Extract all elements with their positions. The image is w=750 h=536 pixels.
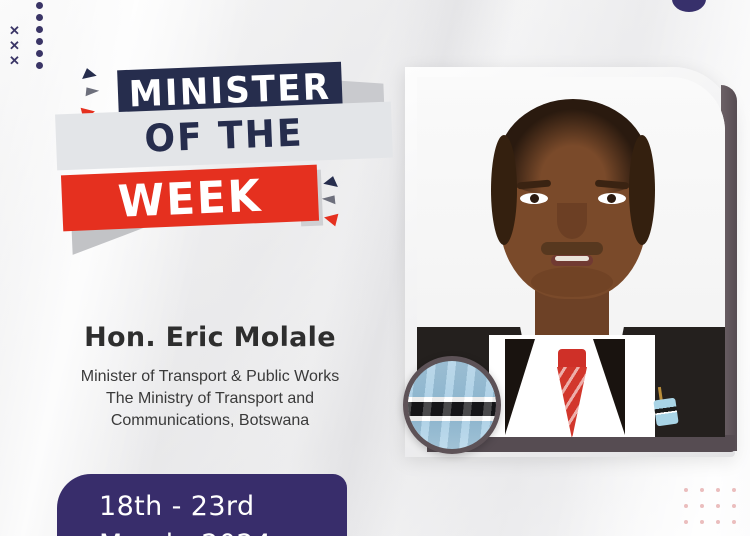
pupil-left [530, 194, 539, 203]
minister-role-line-2: The Ministry of Transport and [0, 388, 420, 410]
x-icon: ✕ [9, 39, 20, 52]
spark-icon [322, 195, 336, 205]
date-line-2: March, 2024 [99, 526, 347, 536]
hair-side-left [491, 135, 517, 245]
flag-wave-texture [408, 361, 496, 449]
spark-icon [323, 211, 339, 227]
dot-icon [732, 520, 736, 524]
moustache [541, 242, 603, 255]
dot-icon [36, 50, 43, 57]
dot-icon [700, 488, 704, 492]
headline-text-of-the: OF THE [144, 111, 305, 160]
botswana-flag-icon [403, 356, 501, 454]
dot-icon [684, 488, 688, 492]
minister-role-line-1: Minister of Transport & Public Works [0, 366, 420, 388]
minister-info-block: Hon. Eric Molale Minister of Transport &… [0, 322, 420, 432]
headline-band-week: WEEK [61, 165, 319, 232]
hair-side-right [629, 135, 655, 245]
dot-icon [700, 520, 704, 524]
lapel-right [593, 339, 625, 435]
dot-icon [36, 14, 43, 21]
pupil-right [607, 194, 616, 203]
dot-icon [36, 26, 43, 33]
dot-icon [716, 520, 720, 524]
nose [557, 203, 587, 239]
spark-icon [82, 68, 98, 84]
spark-icon [86, 87, 100, 97]
dot-icon [684, 504, 688, 508]
dot-icon [684, 520, 688, 524]
dot-icon [36, 38, 43, 45]
spark-icon [322, 176, 338, 192]
dot-icon [732, 488, 736, 492]
dot-icon [732, 504, 736, 508]
purple-circle-decoration [672, 0, 706, 12]
date-line-1: 18th - 23rd [99, 488, 347, 526]
lapel-left [505, 339, 535, 435]
minister-role-line-3: Communications, Botswana [0, 410, 420, 432]
lapel-pin-flag-icon [653, 398, 678, 427]
dot-icon [716, 488, 720, 492]
dot-icon [716, 504, 720, 508]
minister-role: Minister of Transport & Public Works The… [0, 366, 420, 432]
headline-text-week: WEEK [117, 169, 263, 226]
date-banner: 18th - 23rd March, 2024 [57, 474, 347, 536]
minister-name: Hon. Eric Molale [0, 322, 420, 353]
minister-of-the-week-poster: ✕ ✕ ✕ MINISTER OF THE WEEK [0, 0, 750, 536]
chin-shadow [531, 267, 613, 297]
x-icon: ✕ [9, 24, 20, 37]
dot-icon [700, 504, 704, 508]
headline-band-of-the: OF THE [55, 102, 393, 171]
dot-grid-decoration [678, 482, 742, 530]
dot-icon [36, 2, 43, 9]
headline-banner-group: MINISTER OF THE WEEK [0, 60, 420, 320]
teeth [555, 256, 589, 261]
dots-column-decoration [36, 2, 43, 69]
